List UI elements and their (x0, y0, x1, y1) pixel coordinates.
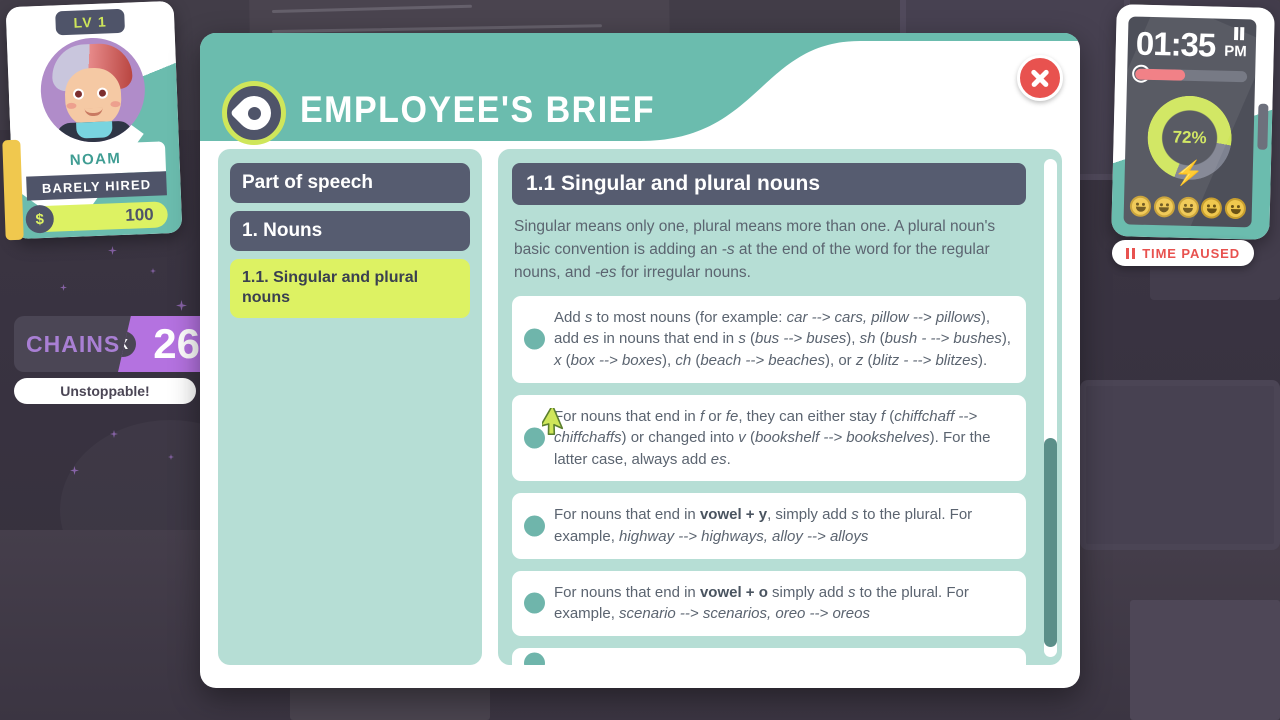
sidebar: Part of speech 1. Nouns 1.1. Singular an… (218, 149, 482, 665)
close-icon[interactable] (1017, 55, 1063, 101)
smiley-face-icon (1177, 197, 1199, 219)
modal-header: EMPLOYEE'S BRIEF (200, 33, 1080, 141)
dollar-coin-icon: $ (25, 205, 54, 234)
pause-icon (1234, 27, 1245, 40)
avatar-blush (110, 101, 120, 107)
chains-count-panel: X 26 (118, 316, 210, 372)
clock-device: 01:35 PM 72% ⚡ (1111, 4, 1275, 240)
clock-icon (1132, 65, 1150, 83)
battery-ring-gauge: 72% ⚡ (1147, 95, 1233, 181)
sidebar-item-nouns[interactable]: 1. Nouns (230, 211, 470, 251)
time-paused-label: TIME PAUSED (1142, 246, 1240, 261)
content-panel: 1.1 Singular and plural nouns Singular m… (498, 149, 1062, 665)
avatar-face (64, 67, 122, 129)
character-name: NOAM (69, 149, 121, 168)
rule-card: For nouns that end in vowel + y, simply … (512, 493, 1026, 558)
rule-card: Add s to most nouns (for example: car --… (512, 296, 1026, 383)
chains-status-pill: Unstoppable! (14, 378, 196, 404)
device-side-button[interactable] (1257, 104, 1268, 150)
rule-card: For nouns that end in f or fe, they can … (512, 395, 1026, 482)
bullet-dot-icon (524, 515, 545, 536)
avatar-collar (76, 121, 113, 138)
chains-bar: CHAINS X 26 (14, 316, 210, 372)
content-title: 1.1 Singular and plural nouns (512, 163, 1026, 205)
sparkle (150, 268, 156, 274)
sparkle (176, 300, 187, 311)
bg-monitor-secondary (1080, 380, 1280, 550)
employees-brief-modal: EMPLOYEE'S BRIEF Part of speech 1. Nouns… (200, 33, 1080, 688)
smiley-face-icon (1153, 196, 1175, 218)
smiley-face-icon (1201, 197, 1223, 219)
sparkle (108, 246, 117, 255)
coin-plate: $ 100 (27, 201, 168, 232)
content-intro: Singular means only one, plural means mo… (512, 205, 1048, 296)
lightning-bolt-icon: ⚡ (1173, 162, 1203, 187)
clock-meridiem: PM (1224, 43, 1247, 61)
smiley-face-icon (1225, 198, 1247, 220)
time-paused-badge: TIME PAUSED (1112, 240, 1254, 266)
chains-widget: CHAINS X 26 Unstoppable! (14, 316, 210, 404)
modal-body: Part of speech 1. Nouns 1.1. Singular an… (200, 149, 1080, 688)
character-rank: BARELY HIRED (42, 176, 152, 195)
avatar-eye (97, 87, 108, 98)
avatar-mouth (85, 108, 103, 117)
avatar-blush (66, 103, 76, 109)
bullet-dot-icon (524, 652, 545, 665)
rule-card (512, 648, 1026, 665)
pause-icon (1126, 248, 1136, 259)
chains-label: CHAINS (14, 331, 120, 358)
rule-card: For nouns that end in vowel + o simply a… (512, 571, 1026, 636)
card-side-tab (2, 140, 23, 241)
sidebar-item-singular-and-plural-nouns[interactable]: 1.1. Singular and plural nouns (230, 259, 470, 318)
vertical-scrollbar[interactable] (1044, 159, 1057, 657)
quill-pin-logo-icon (222, 81, 286, 145)
chains-status-label: Unstoppable! (60, 383, 149, 399)
clock-time: 01:35 (1135, 25, 1215, 65)
time-meter (1135, 69, 1247, 83)
avatar-eye (73, 88, 84, 99)
character-card[interactable]: LV 1 NOAM BARELY HIRED $ 100 (6, 1, 183, 239)
sparkle (60, 284, 67, 291)
scrollbar-thumb[interactable] (1044, 438, 1057, 647)
mood-faces (1130, 195, 1246, 219)
bg-desk-box (1130, 600, 1280, 720)
chains-count: 26 (153, 323, 200, 365)
level-badge: LV 1 (55, 9, 125, 36)
coin-amount: 100 (125, 205, 154, 226)
bullet-dot-icon (524, 593, 545, 614)
device-screen: 01:35 PM 72% ⚡ (1123, 16, 1256, 227)
bullet-dot-icon (524, 329, 545, 350)
page-title: EMPLOYEE'S BRIEF (300, 89, 655, 131)
sidebar-item-part-of-speech[interactable]: Part of speech (230, 163, 470, 203)
smiley-face-icon (1130, 195, 1152, 217)
battery-percent: 72% (1147, 95, 1233, 181)
mouse-pointer-icon (542, 408, 568, 438)
